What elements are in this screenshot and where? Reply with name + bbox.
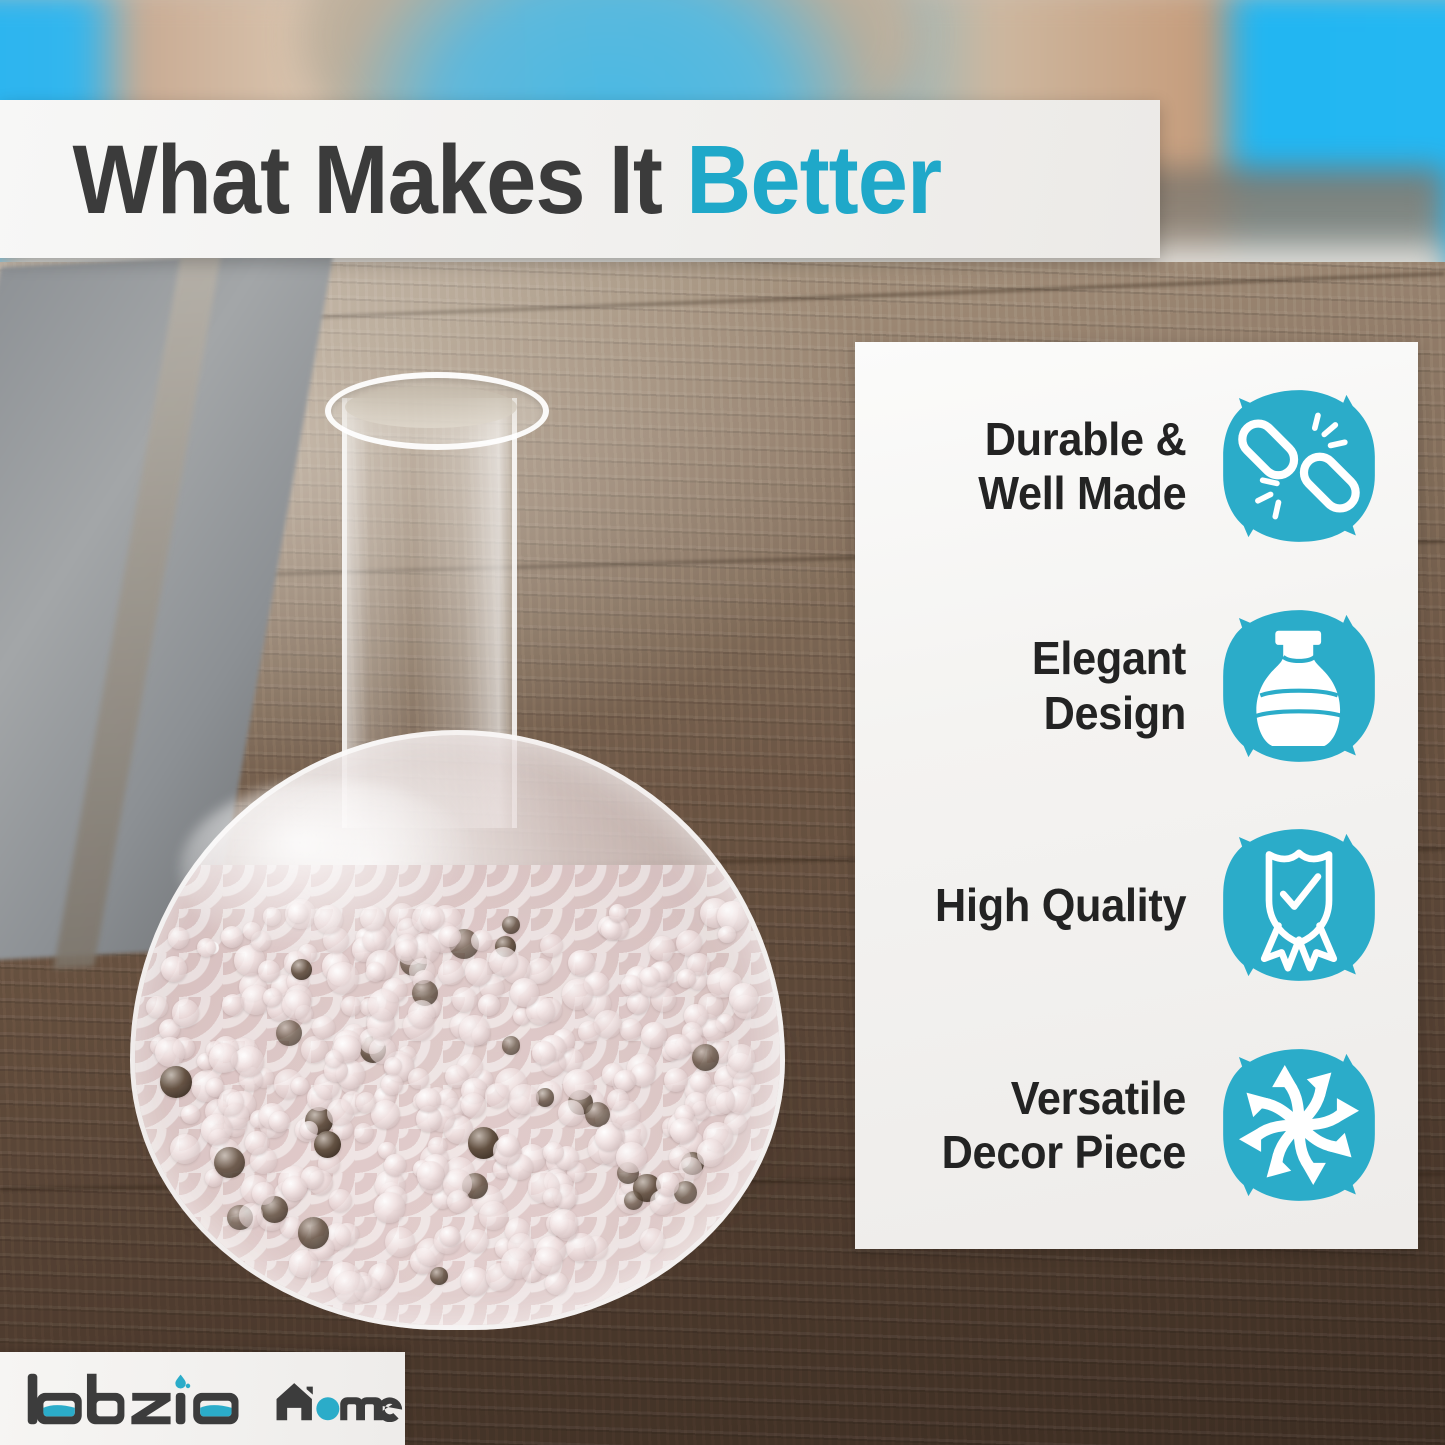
water-bead xyxy=(409,958,435,984)
water-bead xyxy=(218,1089,244,1115)
water-bead xyxy=(329,1189,352,1212)
water-bead xyxy=(181,1105,200,1124)
water-bead xyxy=(327,1099,354,1126)
water-bead xyxy=(558,1100,584,1126)
water-bead xyxy=(366,962,385,981)
water-bead xyxy=(438,960,463,985)
water-bead xyxy=(532,1041,556,1065)
water-bead xyxy=(334,1271,366,1303)
water-bead xyxy=(656,1172,679,1195)
water-bead xyxy=(314,1131,341,1158)
water-bead xyxy=(670,1118,696,1144)
feature-item-quality: High Quality xyxy=(855,812,1418,998)
water-bead xyxy=(649,936,674,961)
water-bead xyxy=(428,1137,447,1156)
water-bead xyxy=(562,979,593,1010)
water-bead xyxy=(341,996,361,1016)
headline-text-primary: What Makes It xyxy=(73,125,687,234)
feature-item-elegant: Elegant Design xyxy=(855,593,1418,779)
water-bead xyxy=(172,999,200,1027)
water-bead xyxy=(300,1121,318,1139)
water-bead xyxy=(461,1093,486,1118)
water-bead xyxy=(430,1267,448,1285)
glass-flask-vase xyxy=(120,360,800,1370)
feature-item-durable: Durable & Well Made xyxy=(855,373,1418,559)
water-bead xyxy=(289,1250,317,1278)
vase-icon xyxy=(1220,607,1378,765)
water-bead xyxy=(282,990,311,1019)
water-bead xyxy=(509,1084,539,1114)
water-bead xyxy=(543,1188,562,1207)
water-bead xyxy=(479,1201,508,1230)
feature-label: Durable & Well Made xyxy=(978,412,1186,521)
water-bead xyxy=(222,994,244,1016)
water-bead xyxy=(384,1154,406,1176)
water-bead xyxy=(568,950,594,976)
water-bead xyxy=(168,927,189,948)
water-bead xyxy=(161,956,187,982)
quality-shield-badge-icon xyxy=(1220,826,1378,984)
water-bead xyxy=(692,1044,719,1071)
page-title: What Makes It Better xyxy=(0,131,941,228)
headline-text-accent: Better xyxy=(686,125,941,234)
water-bead xyxy=(298,1217,329,1248)
water-bead xyxy=(578,1021,600,1043)
water-bead xyxy=(728,1044,756,1072)
water-bead xyxy=(417,1161,445,1189)
water-bead xyxy=(258,960,280,982)
water-bead xyxy=(291,959,312,980)
chain-link-icon xyxy=(1220,387,1378,545)
water-bead xyxy=(718,926,735,943)
water-bead xyxy=(368,989,400,1021)
water-bead xyxy=(327,962,359,994)
home-sublogo xyxy=(273,1376,406,1422)
water-bead xyxy=(489,947,518,976)
water-bead xyxy=(160,1066,192,1098)
water-bead xyxy=(641,1022,667,1048)
water-bead xyxy=(601,919,622,940)
labzio-logo xyxy=(26,1372,259,1426)
feature-item-versatile: Versatile Decor Piece xyxy=(855,1032,1418,1218)
water-bead xyxy=(245,1131,269,1155)
water-bead xyxy=(282,1176,307,1201)
feature-panel: Durable & Well Made xyxy=(855,342,1418,1249)
water-bead xyxy=(269,1111,290,1132)
water-bead xyxy=(374,1192,405,1223)
water-bead xyxy=(543,1142,564,1163)
water-bead xyxy=(201,1114,232,1145)
water-bead xyxy=(471,930,492,951)
water-bead xyxy=(501,1248,532,1279)
water-bead xyxy=(563,1069,594,1100)
water-bead xyxy=(416,1088,441,1113)
water-bead xyxy=(356,1092,376,1112)
water-bead xyxy=(697,1139,725,1167)
water-bead xyxy=(381,1074,402,1095)
water-bead xyxy=(497,1134,519,1156)
water-bead xyxy=(384,1057,402,1075)
feature-label: Elegant Design xyxy=(1032,631,1186,740)
flask-glass-highlight xyxy=(180,780,480,960)
water-bead xyxy=(620,1019,641,1040)
water-bead xyxy=(155,1037,185,1067)
multi-direction-arrows-icon xyxy=(1220,1046,1378,1204)
brand-logo-bar xyxy=(0,1352,405,1445)
water-bead xyxy=(502,1036,520,1054)
infographic-canvas: What Makes It Better Durable & Well Made xyxy=(0,0,1445,1445)
water-bead xyxy=(252,1182,275,1205)
water-bead xyxy=(729,983,758,1012)
water-bead xyxy=(616,1142,647,1173)
water-bead xyxy=(624,1191,643,1210)
headline-banner: What Makes It Better xyxy=(0,100,1160,258)
water-bead xyxy=(545,1272,568,1295)
water-bead xyxy=(234,1046,264,1076)
feature-label: Versatile Decor Piece xyxy=(942,1071,1186,1180)
water-bead xyxy=(703,1020,725,1042)
water-bead xyxy=(385,1227,415,1257)
flask-rim xyxy=(325,372,549,450)
water-bead xyxy=(607,1089,629,1111)
water-bead xyxy=(609,904,626,921)
water-bead xyxy=(408,1000,435,1027)
water-bead xyxy=(665,1034,690,1059)
water-bead xyxy=(485,1083,510,1108)
water-bead xyxy=(354,1123,374,1143)
water-bead xyxy=(540,934,563,957)
water-bead xyxy=(465,1229,489,1253)
water-bead xyxy=(408,1068,429,1089)
water-bead xyxy=(276,1020,302,1046)
feature-label: High Quality xyxy=(935,878,1186,932)
water-bead xyxy=(459,1015,489,1045)
